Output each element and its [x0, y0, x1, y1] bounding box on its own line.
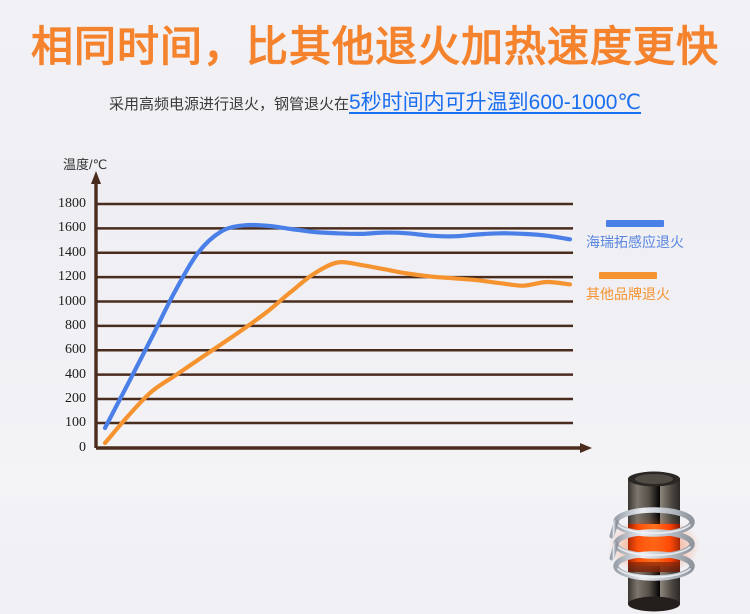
- temperature-chart: 温度/℃ 01002004006008001000120014001600180…: [0, 140, 750, 497]
- subtitle: 采用高频电源进行退火，钢管退火在5秒时间内可升温到600-1000℃: [0, 90, 750, 118]
- page-title: 相同时间，比其他退火加热速度更快: [0, 22, 750, 72]
- legend-swatch-orange: [599, 272, 657, 279]
- induction-coil-pipe-image: [598, 462, 710, 614]
- y-axis-arrow: [91, 171, 101, 184]
- legend-label-orange: 其他品牌退火: [586, 284, 670, 304]
- subtitle-highlight: 5秒时间内可升温到600-1000℃: [349, 91, 641, 114]
- promo-banner: 相同时间，比其他退火加热速度更快 采用高频电源进行退火，钢管退火在5秒时间内可升…: [0, 0, 750, 497]
- legend-item-haruito: 海瑞拓感应退火: [586, 220, 684, 252]
- chart-plot-area: [0, 140, 750, 497]
- x-axis-arrow: [580, 443, 592, 453]
- subtitle-prefix: 采用高频电源进行退火，钢管退火在: [109, 96, 349, 113]
- legend-label-blue: 海瑞拓感应退火: [586, 232, 684, 252]
- legend-item-other-brands: 其他品牌退火: [586, 272, 670, 304]
- legend-swatch-blue: [606, 220, 664, 227]
